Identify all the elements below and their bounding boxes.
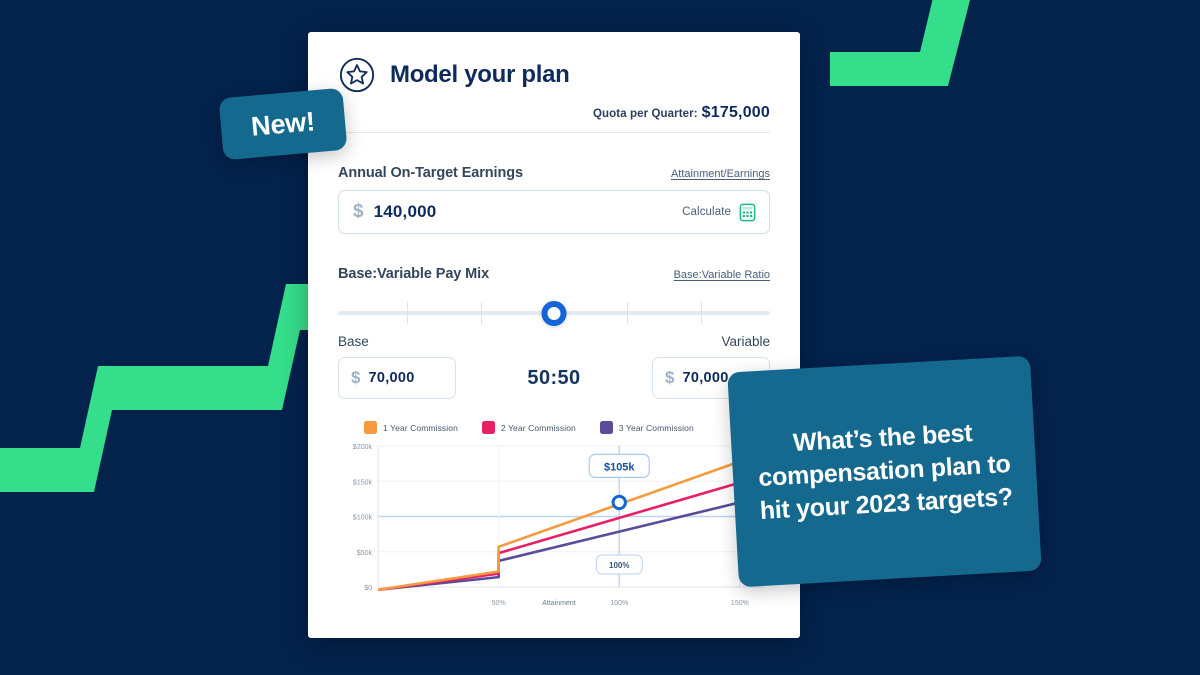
calculate-label: Calculate: [682, 206, 731, 218]
mix-endpoint-labels: Base Variable: [338, 334, 770, 349]
ote-input[interactable]: $ 140,000 Calculate: [338, 190, 770, 234]
legend-item[interactable]: 1 Year Commission: [364, 421, 458, 434]
currency-symbol-icon: $: [665, 368, 674, 388]
slider-tick: [407, 302, 408, 324]
x-tick-label: 150%: [731, 600, 749, 607]
calculate-button[interactable]: Calculate: [682, 203, 757, 222]
quota-per-quarter: Quota per Quarter:$175,000: [338, 104, 770, 122]
base-variable-ratio-link[interactable]: Base:Variable Ratio: [674, 269, 770, 281]
legend-item[interactable]: 2 Year Commission: [482, 421, 576, 434]
x-tick-label: 50%: [492, 600, 506, 607]
mix-header: Base:Variable Pay Mix Base:Variable Rati…: [338, 266, 770, 282]
screenshot-root: Model your plan Quota per Quarter:$175,0…: [0, 0, 1200, 675]
y-tick-label: $150k: [353, 479, 373, 486]
calculator-icon[interactable]: [738, 203, 757, 222]
base-input[interactable]: $ 70,000: [338, 357, 456, 399]
pay-mix-slider[interactable]: [338, 298, 770, 328]
ote-header: Annual On-Target Earnings Attainment/Ear…: [338, 165, 770, 181]
attainment-earnings-link[interactable]: Attainment/Earnings: [671, 168, 770, 180]
green-staircase-left-decoration: [0, 270, 340, 520]
y-tick-label: $50k: [357, 550, 373, 557]
ote-label: Annual On-Target Earnings: [338, 165, 523, 181]
legend-label: 1 Year Commission: [383, 423, 458, 433]
variable-label: Variable: [721, 334, 770, 349]
slider-handle[interactable]: [542, 301, 567, 326]
new-badge: New!: [219, 88, 348, 161]
legend-swatch-icon: [364, 421, 377, 434]
mix-values-row: $ 70,000 50:50 $ 70,000: [338, 357, 770, 399]
mix-label: Base:Variable Pay Mix: [338, 266, 489, 282]
base-value[interactable]: 70,000: [368, 370, 414, 386]
currency-symbol-icon: $: [351, 368, 360, 388]
legend-swatch-icon: [600, 421, 613, 434]
currency-symbol-icon: $: [353, 201, 364, 223]
quota-label: Quota per Quarter:: [593, 108, 698, 120]
question-callout-text: What’s the best compensation plan to hit…: [752, 415, 1016, 528]
slider-tick: [701, 302, 702, 324]
legend-label: 3 Year Commission: [619, 423, 694, 433]
x-tick-label: 100%: [610, 600, 628, 607]
slider-tick: [481, 302, 482, 324]
x-axis-title: Attainment: [542, 600, 576, 607]
y-tick-label: $0: [364, 585, 372, 592]
value-tooltip-label: $105k: [604, 461, 635, 473]
legend-label: 2 Year Commission: [501, 423, 576, 433]
ote-value[interactable]: 140,000: [374, 202, 683, 222]
axis-tooltip-label: 100%: [609, 561, 629, 570]
legend-item[interactable]: 3 Year Commission: [600, 421, 694, 434]
slider-tick: [627, 302, 628, 324]
model-your-plan-card: Model your plan Quota per Quarter:$175,0…: [308, 32, 800, 638]
quota-value: $175,000: [702, 104, 770, 121]
chart-legend: 1 Year Commission2 Year Commission3 Year…: [338, 421, 770, 434]
y-tick-label: $100k: [353, 515, 373, 522]
series-line: [378, 502, 740, 589]
header-divider: [338, 132, 770, 133]
page-title: Model your plan: [390, 63, 570, 87]
chart-plot: $0$50k$100k$150k$200k50%100%150%Attainme…: [338, 438, 770, 613]
new-badge-label: New!: [250, 106, 316, 142]
base-label: Base: [338, 334, 369, 349]
variable-value[interactable]: 70,000: [682, 370, 728, 386]
y-tick-label: $200k: [353, 444, 373, 451]
legend-swatch-icon: [482, 421, 495, 434]
chart-marker[interactable]: [613, 496, 625, 508]
question-callout: What’s the best compensation plan to hit…: [727, 356, 1042, 588]
star-circle-icon: [338, 56, 376, 94]
earnings-chart: 1 Year Commission2 Year Commission3 Year…: [338, 421, 770, 613]
green-staircase-right-decoration: [770, 0, 1200, 130]
series-line: [378, 483, 740, 590]
pay-mix-ratio: 50:50: [527, 367, 580, 390]
card-header: Model your plan: [338, 56, 770, 94]
